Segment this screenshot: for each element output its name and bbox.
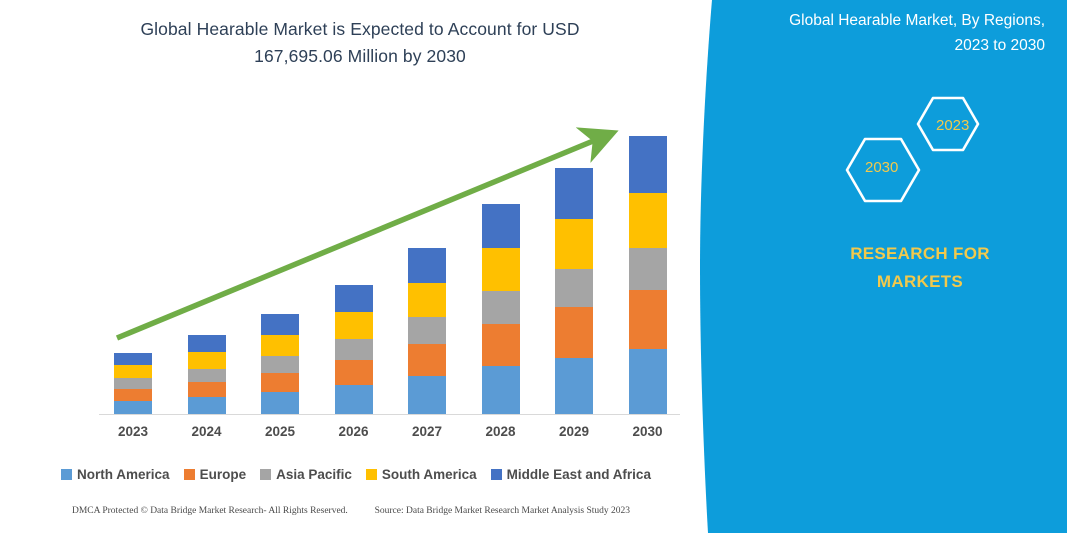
bar-segment — [188, 369, 226, 382]
legend-label: North America — [77, 467, 170, 482]
legend-item[interactable]: Asia Pacific — [260, 467, 352, 482]
chart-legend: North AmericaEuropeAsia PacificSouth Ame… — [0, 467, 712, 482]
legend-label: Middle East and Africa — [507, 467, 651, 482]
bar-segment — [114, 389, 152, 401]
hexagon-2023-label: 2023 — [936, 117, 969, 134]
brand-title-line2: 2023 to 2030 — [745, 33, 1045, 58]
bar-segment — [408, 283, 446, 317]
bar-column — [114, 353, 152, 414]
bar-column — [408, 248, 446, 414]
legend-swatch-icon — [184, 469, 195, 480]
bar-segment — [188, 335, 226, 352]
bar-segment — [335, 360, 373, 385]
footer-copyright: DMCA Protected © Data Bridge Market Rese… — [72, 506, 348, 516]
brand-tagline-line1: RESEARCH FOR — [850, 244, 990, 263]
x-axis-label: 2028 — [466, 424, 536, 439]
bar-segment — [482, 204, 520, 248]
bar-segment — [114, 401, 152, 414]
legend-item[interactable]: Europe — [184, 467, 247, 482]
hexagon-outlines-icon — [815, 90, 1015, 210]
bar-segment — [408, 248, 446, 283]
x-axis-label: 2023 — [98, 424, 168, 439]
brand-tagline: RESEARCH FOR MARKETS — [815, 240, 1025, 296]
bar-segment — [261, 356, 299, 373]
brand-title: Global Hearable Market, By Regions, 2023… — [745, 8, 1045, 58]
bar-column — [555, 168, 593, 414]
bar-segment — [408, 317, 446, 344]
legend-swatch-icon — [491, 469, 502, 480]
legend-swatch-icon — [260, 469, 271, 480]
bar-segment — [408, 376, 446, 414]
bar-column — [482, 204, 520, 414]
bar-segment — [261, 373, 299, 392]
legend-swatch-icon — [61, 469, 72, 480]
x-axis-label: 2027 — [392, 424, 462, 439]
bar-segment — [261, 314, 299, 335]
brand-tagline-line2: MARKETS — [815, 268, 1025, 296]
bar-column — [188, 335, 226, 414]
infographic-root: Global Hearable Market is Expected to Ac… — [0, 0, 1067, 533]
bar-segment — [482, 324, 520, 366]
footer: DMCA Protected © Data Bridge Market Rese… — [0, 506, 700, 516]
bar-segment — [261, 335, 299, 356]
bar-segment — [482, 248, 520, 291]
hexagon-badges: 2023 2030 — [815, 90, 1015, 210]
bar-segment — [261, 392, 299, 414]
hexagon-2030-label: 2030 — [865, 159, 898, 176]
bar-segment — [335, 385, 373, 414]
bar-segment — [555, 219, 593, 269]
bar-segment — [114, 353, 152, 365]
legend-item[interactable]: Middle East and Africa — [491, 467, 651, 482]
legend-label: Asia Pacific — [276, 467, 352, 482]
bar-segment — [188, 397, 226, 414]
bar-segment — [555, 269, 593, 307]
x-axis-label: 2024 — [172, 424, 242, 439]
bar-segment — [188, 382, 226, 397]
bar-segment — [188, 352, 226, 369]
legend-label: South America — [382, 467, 477, 482]
bar-segment — [408, 344, 446, 376]
bar-segment — [482, 366, 520, 414]
bar-segment — [482, 291, 520, 324]
legend-swatch-icon — [366, 469, 377, 480]
x-axis-label: 2025 — [245, 424, 315, 439]
bar-segment — [555, 307, 593, 358]
legend-item[interactable]: North America — [61, 467, 170, 482]
bar-segment — [335, 285, 373, 312]
bar-segment — [555, 358, 593, 414]
bar-chart-plot: 20232024202520262027202820292030 — [0, 0, 712, 533]
bar-segment — [114, 365, 152, 378]
x-axis-label: 2029 — [539, 424, 609, 439]
chart-panel: Global Hearable Market is Expected to Ac… — [0, 0, 712, 533]
footer-source: Source: Data Bridge Market Research Mark… — [375, 506, 630, 516]
legend-item[interactable]: South America — [366, 467, 477, 482]
bar-segment — [335, 312, 373, 339]
bar-column — [335, 285, 373, 414]
bar-column — [261, 314, 299, 414]
brand-panel: Global Hearable Market, By Regions, 2023… — [640, 0, 1067, 533]
brand-title-line1: Global Hearable Market, By Regions, — [789, 12, 1045, 29]
bar-segment — [555, 168, 593, 219]
x-axis-label: 2026 — [319, 424, 389, 439]
bar-segment — [335, 339, 373, 360]
bar-segment — [114, 378, 152, 389]
legend-label: Europe — [200, 467, 247, 482]
x-axis-line — [99, 414, 680, 415]
growth-arrow-icon — [0, 0, 712, 533]
